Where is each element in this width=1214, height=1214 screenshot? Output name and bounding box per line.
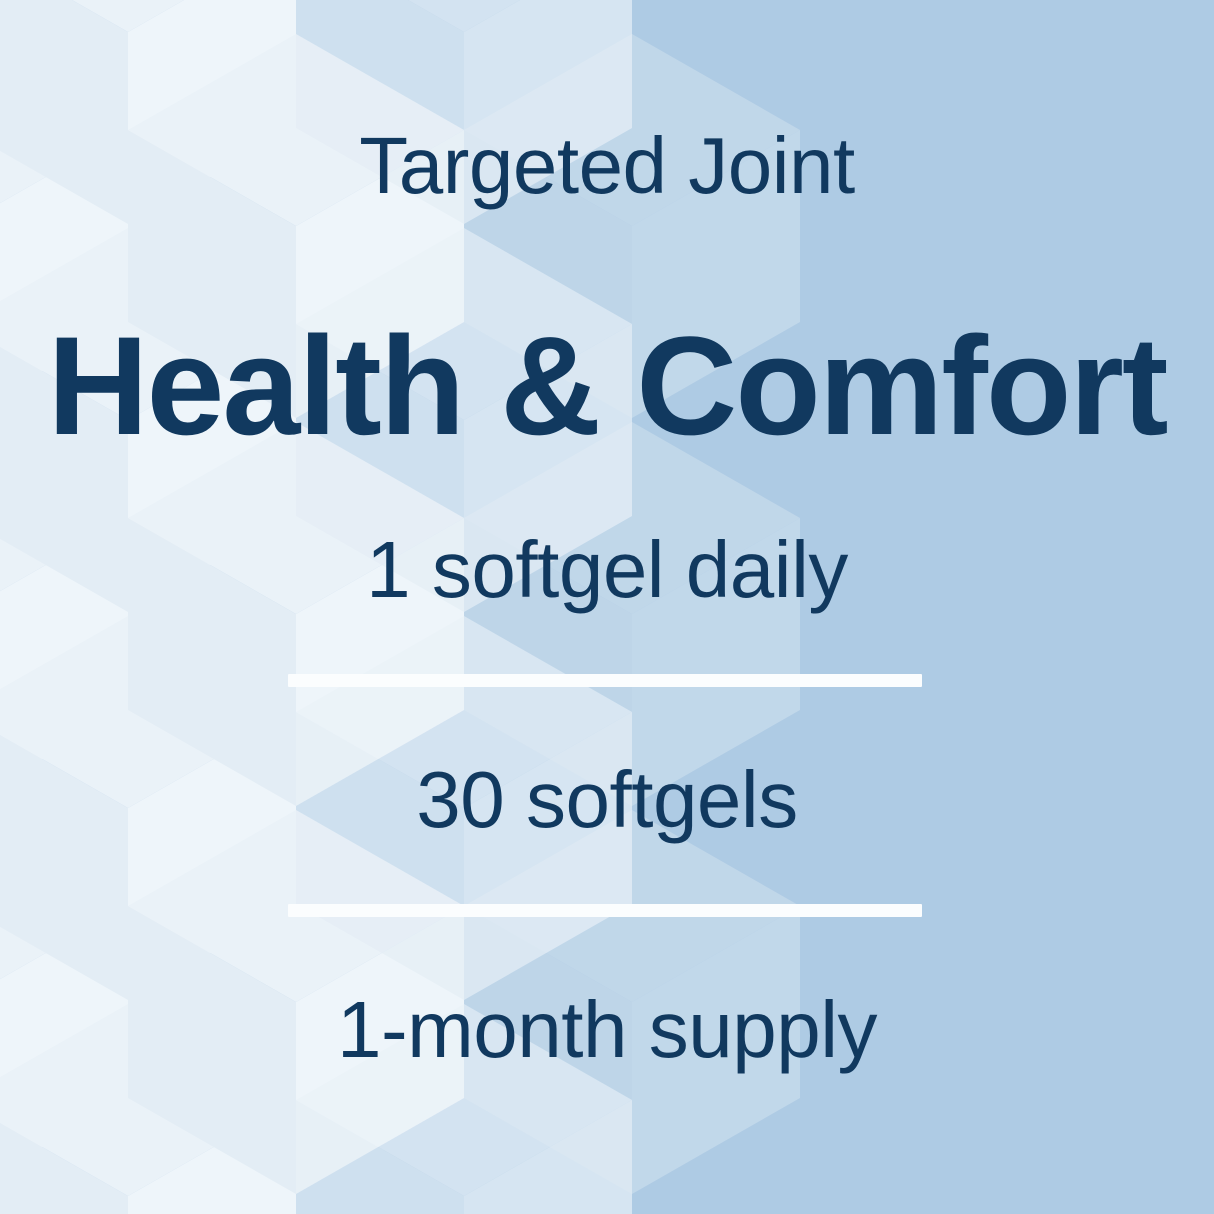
- list-item: 1-month supply: [0, 990, 1214, 1070]
- card-content: Targeted Joint Health & Comfort 1 softge…: [0, 0, 1214, 1214]
- page-title: Health & Comfort: [0, 316, 1214, 456]
- divider: [288, 674, 922, 687]
- product-infographic-card: Targeted Joint Health & Comfort 1 softge…: [0, 0, 1214, 1214]
- eyebrow-text: Targeted Joint: [0, 126, 1214, 206]
- list-item: 30 softgels: [0, 760, 1214, 840]
- list-item: 1 softgel daily: [0, 530, 1214, 610]
- divider: [288, 904, 922, 917]
